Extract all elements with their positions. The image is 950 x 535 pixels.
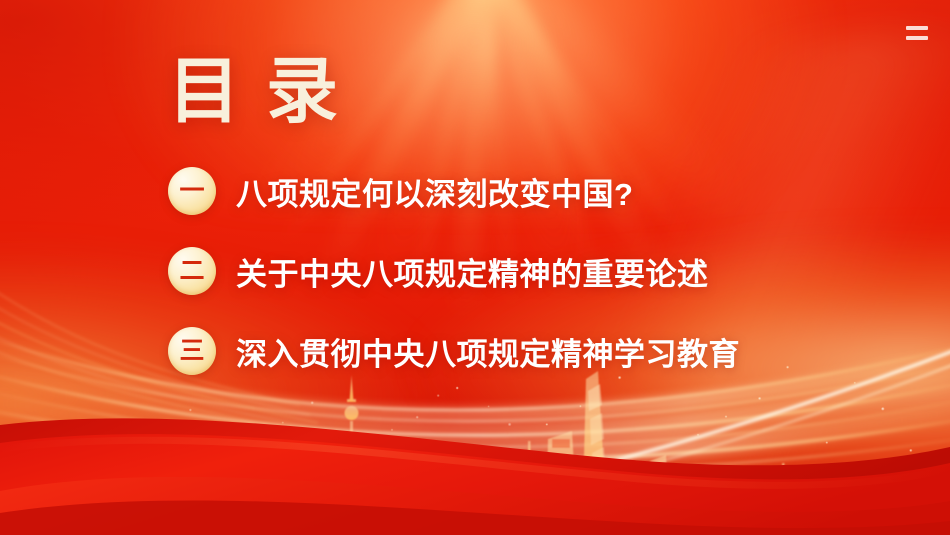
- toc-item-1[interactable]: 一 八项规定何以深刻改变中国?: [168, 162, 828, 220]
- equals-mark-bar-top: [906, 26, 928, 30]
- toc-badge-3: 三: [168, 327, 216, 375]
- equals-mark-icon: [906, 26, 928, 40]
- slide-content: 目录 一 八项规定何以深刻改变中国? 二 关于中央八项规定精神的重要论述 三 深…: [0, 0, 950, 535]
- equals-mark-bar-bottom: [906, 36, 928, 40]
- toc-label-1: 八项规定何以深刻改变中国?: [236, 169, 633, 214]
- toc-item-3[interactable]: 三 深入贯彻中央八项规定精神学习教育: [168, 322, 828, 380]
- toc-label-2: 关于中央八项规定精神的重要论述: [236, 249, 709, 294]
- page-title: 目录: [168, 56, 364, 128]
- toc-badge-2: 二: [168, 247, 216, 295]
- toc-item-2[interactable]: 二 关于中央八项规定精神的重要论述: [168, 242, 828, 300]
- toc-label-3: 深入贯彻中央八项规定精神学习教育: [236, 329, 740, 374]
- table-of-contents-list: 一 八项规定何以深刻改变中国? 二 关于中央八项规定精神的重要论述 三 深入贯彻…: [168, 162, 828, 402]
- presentation-slide: 目录 一 八项规定何以深刻改变中国? 二 关于中央八项规定精神的重要论述 三 深…: [0, 0, 950, 535]
- toc-badge-1: 一: [168, 167, 216, 215]
